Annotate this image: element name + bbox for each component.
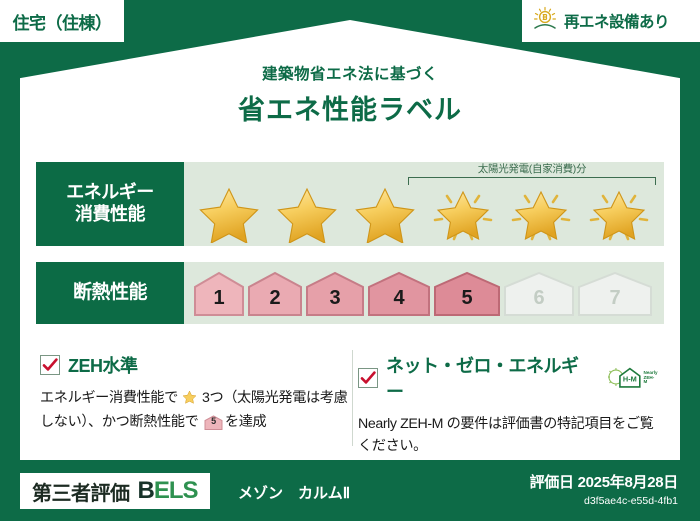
checkbox-checked[interactable]: [40, 355, 60, 375]
insulation-level-strip: 1 2 3 4 5: [184, 262, 664, 324]
energy-performance-label-box: エネルギー 消費性能: [36, 162, 184, 246]
criterion-header: ネット・ゼロ・エネルギー H-M Nearly ZEH-M: [358, 352, 658, 404]
evaluation-info: 評価日 2025年8月28日 d3f5ae4c-e55d-4fb1: [530, 471, 678, 507]
energy-performance-label: 住宅（住棟） 再エネ設備あり 建築: [0, 0, 700, 521]
insulation-level-number: 2: [269, 287, 280, 316]
insulation-level-number: 1: [213, 287, 224, 316]
energy-label-line2: 消費性能: [75, 204, 145, 226]
renewable-energy-badge: 再エネ設備あり: [522, 0, 700, 42]
renewable-badge-label: 再エネ設備あり: [564, 10, 669, 32]
rating-star: [352, 183, 418, 243]
evaluation-id: d3f5ae4c-e55d-4fb1: [530, 495, 678, 507]
title-subtitle: 建築物省エネ法に基づく: [0, 62, 700, 84]
solar-sun-icon: [532, 6, 558, 37]
criterion-description: エネルギー消費性能で 3つ（太陽光発電は考慮しない）、かつ断熱性能で 5 を達成: [40, 387, 352, 433]
rating-star-solar: [508, 183, 574, 243]
energy-rating-body: 太陽光発電(自家消費)分: [184, 162, 664, 246]
bels-logo-els: ELS: [154, 477, 198, 504]
energy-performance-row: エネルギー 消費性能 太陽光発電(自家消費)分: [36, 162, 664, 246]
title-block: 建築物省エネ法に基づく 省エネ性能ラベル: [0, 62, 700, 127]
energy-label-line1: エネルギー: [66, 182, 154, 204]
house-type-tag: 住宅（住棟）: [0, 0, 124, 42]
criterion-text-part3: を達成: [225, 414, 266, 430]
insulation-level-inactive: 7: [576, 270, 654, 316]
solar-contribution-note: 太陽光発電(自家消費)分: [408, 161, 656, 176]
inline-insulation-level-number: 5: [204, 415, 223, 430]
nearly-zeh-m-logo: H-M Nearly ZEH-M: [607, 365, 658, 391]
building-name: メゾン カルムⅡ: [238, 482, 350, 503]
insulation-performance-label-box: 断熱性能: [36, 262, 184, 324]
criterion-title: ZEH水準: [68, 352, 138, 378]
rating-star: [274, 183, 340, 243]
evaluation-date-value: 2025年8月28日: [578, 474, 678, 491]
star-rating-strip: [184, 182, 664, 244]
criterion-description: Nearly ZEH-M の要件は評価書の特記項目をご覧ください。: [358, 413, 658, 457]
bels-jp-label: 第三者評価: [32, 477, 130, 506]
criterion-title: ネット・ゼロ・エネルギー: [386, 352, 595, 404]
rating-star: [196, 183, 262, 243]
bels-certification-box: 第三者評価 BELS: [20, 473, 210, 509]
insulation-level: 4: [366, 270, 432, 316]
inline-insulation-level-icon: 5: [204, 415, 223, 430]
bels-logo: BELS: [138, 477, 198, 505]
insulation-level: 3: [304, 270, 366, 316]
svg-text:H-M: H-M: [623, 374, 637, 383]
rating-star-solar: [430, 183, 496, 243]
criterion-zeh-standard: ZEH水準 エネルギー消費性能で 3つ（太陽光発電は考慮しない）、かつ断熱性能で…: [40, 352, 352, 433]
criterion-text-part1: エネルギー消費性能で: [40, 390, 178, 406]
insulation-level-number: 6: [533, 287, 544, 316]
criteria-divider: [352, 350, 353, 446]
insulation-rating-body: 1 2 3 4 5: [184, 262, 664, 324]
insulation-performance-row: 断熱性能 1 2 3 4: [36, 262, 664, 324]
evaluation-date: 評価日 2025年8月28日: [530, 471, 678, 492]
rating-star-solar: [586, 183, 652, 243]
logo-caption-line2: ZEH-M: [644, 376, 658, 386]
criterion-net-zero-energy: ネット・ゼロ・エネルギー H-M Nearly ZEH-M: [358, 352, 658, 457]
insulation-level: 5: [432, 270, 502, 316]
insulation-level-number: 7: [609, 287, 620, 316]
insulation-level-number: 3: [329, 287, 340, 316]
evaluation-date-label: 評価日: [530, 474, 574, 491]
page-title: 省エネ性能ラベル: [0, 88, 700, 127]
insulation-level-number: 4: [393, 287, 404, 316]
inline-star-icon: [182, 392, 201, 408]
house-type-tag-label: 住宅（住棟）: [13, 9, 112, 34]
criterion-header: ZEH水準: [40, 352, 352, 378]
insulation-label: 断熱性能: [73, 282, 147, 305]
insulation-level-inactive: 6: [502, 270, 576, 316]
insulation-level: 1: [192, 270, 246, 316]
insulation-level: 2: [246, 270, 304, 316]
bels-logo-b: B: [138, 477, 154, 504]
insulation-level-number: 5: [461, 287, 472, 316]
checkbox-checked[interactable]: [358, 368, 378, 388]
